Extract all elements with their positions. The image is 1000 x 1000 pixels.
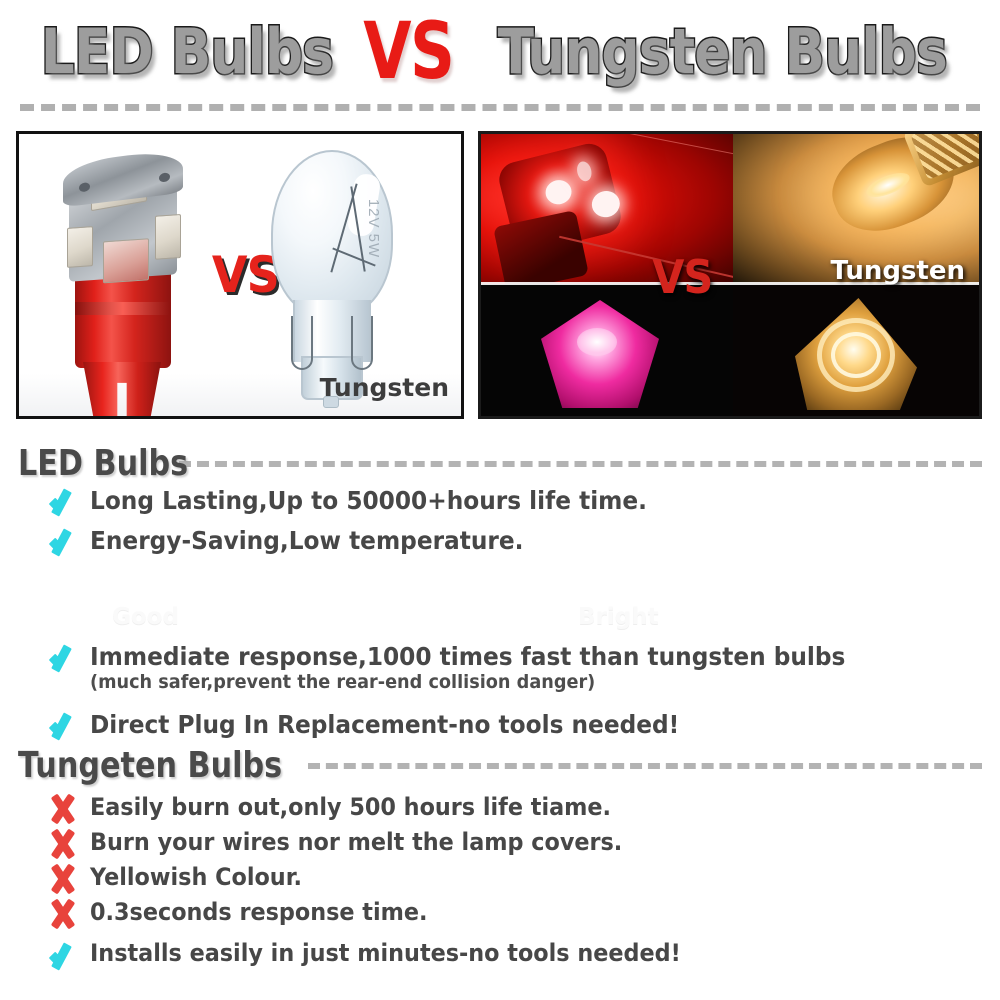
tungsten-bulb-image: 12V 5W [257, 150, 407, 408]
list-item: Yellowish Colour. [44, 862, 984, 898]
headlight-reflector [795, 298, 917, 410]
led-benefits-list-top: Long Lasting,Up to 50000+hours life time… [44, 484, 984, 564]
section-divider [179, 461, 982, 467]
list-item-label: Immediate response,1000 times fast than … [90, 640, 845, 673]
cross-icon [44, 792, 90, 828]
cross-icon [44, 862, 90, 898]
led-emitter-dot [575, 160, 593, 183]
led-cap-hole [79, 182, 90, 192]
led-smd-chip [155, 214, 181, 260]
led-bulb-image [57, 152, 187, 400]
quadrant-tungsten-headlight [733, 284, 979, 416]
list-item-label: Long Lasting,Up to 50000+hours life time… [90, 484, 647, 517]
list-item: Long Lasting,Up to 50000+hours life time… [44, 484, 984, 520]
check-icon [44, 640, 90, 676]
tungsten-caption: Tungsten [830, 256, 965, 286]
title-left-word: LED Bulbs [40, 21, 332, 83]
check-icon [44, 708, 90, 744]
bulb-contact-wire [291, 316, 313, 370]
list-item: Easily burn out,only 500 hours life tiam… [44, 792, 984, 828]
list-item-label: Burn your wires nor melt the lamp covers… [90, 827, 622, 859]
check-icon [44, 938, 90, 974]
led-emitter-dot [543, 177, 574, 207]
list-item-label: Easily burn out,only 500 hours life tiam… [90, 792, 611, 824]
list-item: Burn your wires nor melt the lamp covers… [44, 827, 984, 863]
list-item: Direct Plug In Replacement-no tools need… [44, 708, 984, 744]
list-item: Immediate response,1000 times fast than … [44, 640, 984, 694]
illumination-comparison-photo: VS Tungsten [478, 131, 982, 419]
led-benefits-list-bottom: Immediate response,1000 times fast than … [44, 640, 984, 748]
section-title-text: LED Bulbs [18, 446, 188, 482]
check-icon [44, 484, 90, 520]
led-emitter-dot [589, 188, 622, 220]
faint-artifact-text: Good [112, 604, 179, 630]
list-item: 0.3seconds response time. [44, 897, 984, 933]
section-heading-tungsten: Tungeten Bulbs [18, 748, 982, 784]
list-item-label: Direct Plug In Replacement-no tools need… [90, 708, 679, 741]
list-item: Installs easily in just minutes-no tools… [44, 938, 984, 974]
led-hotspot [577, 328, 617, 356]
tungsten-caption: Tungsten [320, 373, 449, 402]
list-item-body: Immediate response,1000 times fast than … [90, 640, 902, 694]
list-item-label: Yellowish Colour. [90, 862, 302, 894]
bulb-contact-wire [351, 316, 373, 370]
product-comparison-photo: VS 12V 5W Tungsten [16, 131, 464, 419]
faint-artifact-text: Bright [578, 604, 659, 630]
list-item-label: Energy-Saving,Low temperature. [90, 524, 523, 557]
wire-streak [602, 134, 733, 157]
panel-vs-label: VS [652, 250, 712, 304]
list-item-label: 0.3seconds response time. [90, 897, 427, 929]
list-item-label: Installs easily in just minutes-no tools… [90, 938, 681, 970]
filament-glow [863, 168, 912, 202]
led-smd-chip [103, 238, 149, 283]
page-title: LED Bulbs VS Tungsten Bulbs [0, 8, 1000, 96]
led-cap-hole [159, 172, 170, 182]
led-bulb-body [493, 210, 589, 284]
section-title-text: Tungeten Bulbs [18, 748, 282, 784]
cross-icon [44, 827, 90, 863]
check-icon [44, 524, 90, 560]
led-smd-chip [67, 226, 93, 268]
title-vs-word: VS [364, 13, 454, 91]
bulb-rating-text: 12V 5W [365, 199, 382, 258]
reflector-ring-inner [831, 332, 881, 378]
section-divider [308, 763, 982, 769]
section-heading-led: LED Bulbs [18, 446, 982, 482]
tungsten-drawbacks-list: Easily burn out,only 500 hours life tiam… [44, 792, 984, 973]
header-divider [20, 104, 980, 111]
list-item: Energy-Saving,Low temperature. [44, 524, 984, 560]
title-right-word: Tungsten Bulbs [498, 21, 947, 83]
infographic-page: LED Bulbs VS Tungsten Bulbs VS [0, 0, 1000, 1000]
cross-icon [44, 897, 90, 933]
list-item-subtext: (much safer,prevent the rear-end collisi… [90, 671, 845, 694]
